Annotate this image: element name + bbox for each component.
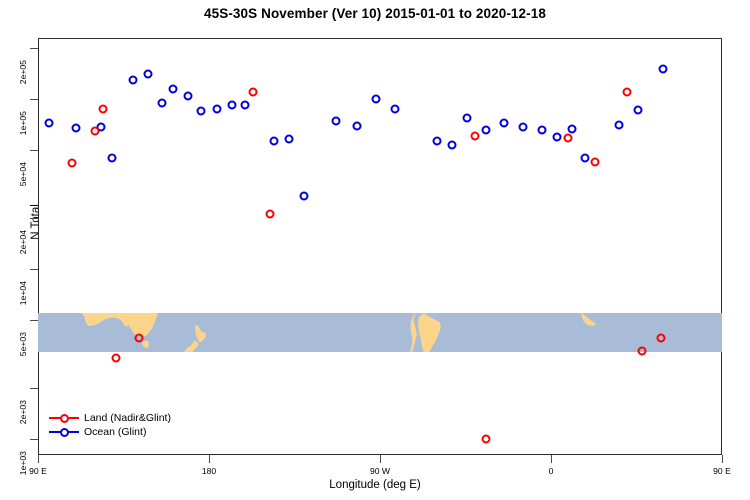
data-point	[482, 125, 491, 134]
y-tick	[30, 218, 38, 219]
data-point	[537, 125, 546, 134]
data-point	[482, 434, 491, 443]
y-tick-label: 1e+04	[18, 281, 28, 305]
data-point	[518, 122, 527, 131]
data-point	[98, 104, 107, 113]
data-point	[269, 136, 278, 145]
data-point	[564, 134, 573, 143]
y-tick-label: 5e+03	[18, 332, 28, 356]
y-tick-label: 2e+05	[18, 60, 28, 84]
legend-item-ocean: Ocean (Glint)	[49, 425, 171, 439]
data-point	[184, 91, 193, 100]
y-tick	[30, 48, 38, 49]
y-tick	[30, 388, 38, 389]
data-point	[300, 191, 309, 200]
x-tick	[380, 455, 381, 463]
x-tick	[209, 455, 210, 463]
x-tick	[722, 455, 723, 463]
chart-title: 45S-30S November (Ver 10) 2015-01-01 to …	[0, 6, 750, 21]
data-point	[552, 132, 561, 141]
legend: Land (Nadir&Glint) Ocean (Glint)	[46, 409, 176, 441]
x-tick-label: 0	[549, 466, 554, 476]
y-tick	[30, 150, 38, 151]
data-point	[581, 154, 590, 163]
data-point	[72, 123, 81, 132]
data-point	[241, 101, 250, 110]
data-point	[45, 118, 54, 127]
chart-figure: 45S-30S November (Ver 10) 2015-01-01 to …	[0, 0, 750, 500]
legend-marker-ocean	[49, 426, 79, 438]
data-point	[391, 104, 400, 113]
data-point	[463, 113, 472, 122]
x-tick-label: 90 W	[370, 466, 390, 476]
data-point	[197, 107, 206, 116]
data-point	[134, 334, 143, 343]
data-point	[129, 76, 138, 85]
x-tick-label: 90 E	[29, 466, 47, 476]
data-point	[111, 353, 120, 362]
x-tick	[551, 455, 552, 463]
data-point	[108, 154, 117, 163]
data-point	[433, 136, 442, 145]
data-point	[471, 131, 480, 140]
y-tick-label: 1e+05	[18, 111, 28, 135]
y-tick	[30, 99, 38, 100]
data-point	[499, 118, 508, 127]
data-point	[634, 106, 643, 115]
data-point	[265, 210, 274, 219]
data-point	[248, 88, 257, 97]
legend-marker-land	[49, 412, 79, 424]
y-tick	[30, 269, 38, 270]
data-point	[227, 100, 236, 109]
data-point	[168, 85, 177, 94]
y-tick-label: 2e+04	[18, 230, 28, 254]
x-tick-label: 180	[202, 466, 216, 476]
x-axis-label: Longitude (deg E)	[0, 479, 750, 491]
data-point	[332, 116, 341, 125]
data-point	[144, 69, 153, 78]
y-tick	[30, 320, 38, 321]
data-point	[623, 88, 632, 97]
data-point	[91, 127, 100, 136]
y-tick-label: 1e+03	[18, 451, 28, 475]
y-tick	[30, 439, 38, 440]
data-point	[68, 159, 77, 168]
legend-item-land: Land (Nadir&Glint)	[49, 411, 171, 425]
data-point	[659, 65, 668, 74]
x-tick	[38, 455, 39, 463]
data-point	[590, 157, 599, 166]
data-point	[353, 121, 362, 130]
legend-label-land: Land (Nadir&Glint)	[84, 412, 171, 424]
y-tick-label: 5e+04	[18, 162, 28, 186]
legend-label-ocean: Ocean (Glint)	[84, 426, 146, 438]
data-point	[284, 135, 293, 144]
data-point	[157, 99, 166, 108]
data-point	[638, 346, 647, 355]
data-point	[615, 120, 624, 129]
data-point	[372, 95, 381, 104]
data-point	[567, 124, 576, 133]
y-tick-label: 2e+03	[18, 400, 28, 424]
data-point	[212, 104, 221, 113]
plot-area	[38, 38, 722, 455]
data-point	[657, 334, 666, 343]
data-point	[448, 140, 457, 149]
x-tick-label: 90 E	[713, 466, 731, 476]
